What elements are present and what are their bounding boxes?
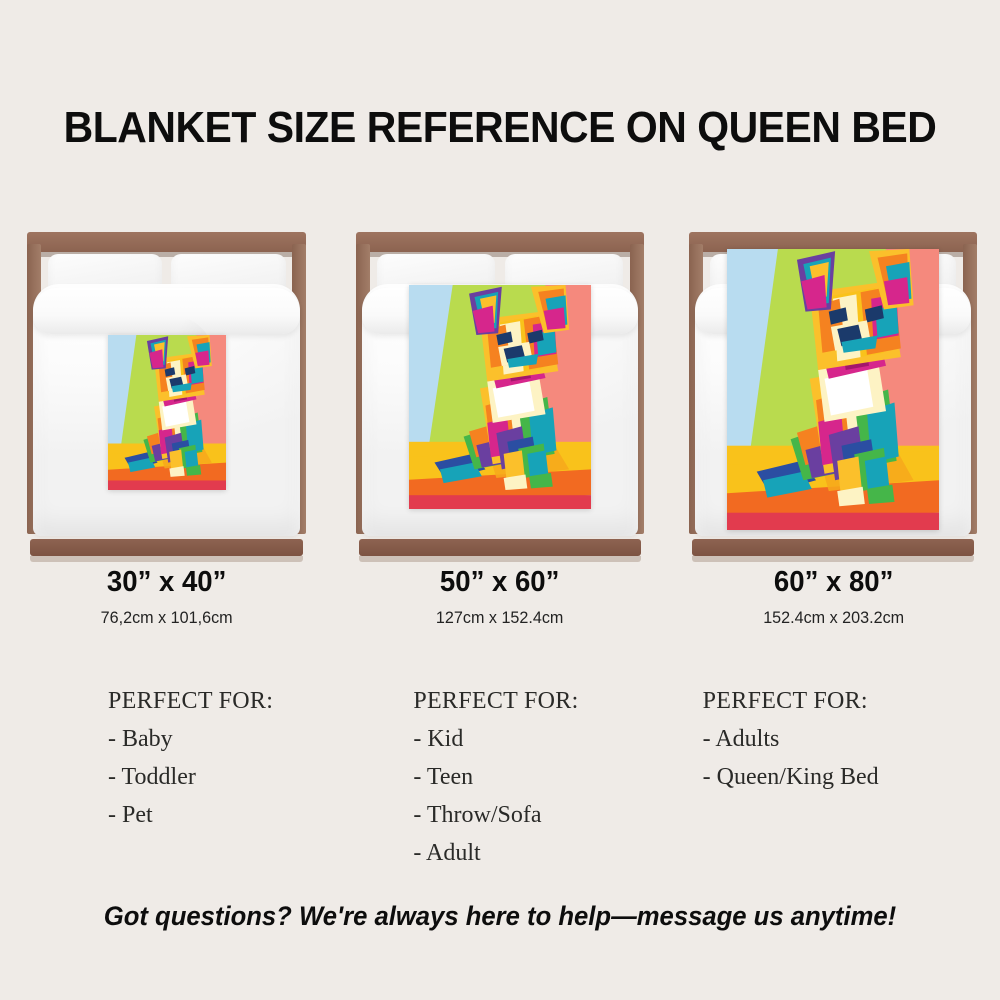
size-inches-label: 60” x 80”	[675, 566, 992, 599]
size-cell-60x80: 60” x 80” 152.4cm x 203.2cm	[667, 566, 1000, 628]
list-item: - Toddler	[108, 764, 333, 791]
blanket-preview-60x80[interactable]	[727, 249, 939, 530]
product-column-60x80	[667, 232, 1000, 572]
bed-headboard	[27, 232, 305, 252]
perfect-for-row: PERFECT FOR: - Baby - Toddler - Pet PERF…	[0, 688, 1000, 867]
size-inches-label: 30” x 40”	[8, 566, 325, 599]
perfect-for-heading: PERFECT FOR:	[108, 688, 333, 715]
list-item: - Kid	[413, 726, 666, 753]
bed-footboard	[359, 539, 641, 556]
size-cm-label: 127cm x 152.4cm	[342, 608, 659, 628]
size-label-row: 30” x 40” 76,2cm x 101,6cm 50” x 60” 127…	[0, 566, 1000, 628]
footboard-shadow	[30, 556, 303, 562]
list-item: - Baby	[108, 726, 333, 753]
size-cell-50x60: 50” x 60” 127cm x 152.4cm	[333, 566, 666, 628]
corgi-artwork-icon	[409, 285, 591, 509]
list-item: - Adults	[703, 726, 1000, 753]
list-item: - Adult	[413, 840, 666, 867]
bed-footboard	[692, 539, 974, 556]
corgi-artwork-icon	[108, 335, 226, 490]
list-item: - Teen	[413, 764, 666, 791]
list-item: - Throw/Sofa	[413, 802, 666, 829]
product-column-50x60	[333, 232, 666, 572]
size-cm-label: 76,2cm x 101,6cm	[8, 608, 325, 628]
queen-bed-illustration	[350, 232, 650, 562]
queen-bed-illustration	[683, 232, 983, 562]
perfect-for-heading: PERFECT FOR:	[413, 688, 666, 715]
footer-contact-message: Got questions? We're always here to help…	[25, 901, 975, 932]
perfect-for-50x60: PERFECT FOR: - Kid - Teen - Throw/Sofa -…	[333, 688, 666, 867]
footboard-shadow	[359, 556, 641, 562]
footboard-shadow	[692, 556, 974, 562]
perfect-for-30x40: PERFECT FOR: - Baby - Toddler - Pet	[0, 688, 333, 867]
blanket-preview-30x40[interactable]	[108, 335, 226, 490]
bed-mockup-row	[0, 232, 1000, 572]
perfect-for-60x80: PERFECT FOR: - Adults - Queen/King Bed	[667, 688, 1000, 867]
bed-headboard	[356, 232, 644, 252]
queen-bed-illustration	[22, 232, 312, 562]
size-cm-label: 152.4cm x 203.2cm	[675, 608, 992, 628]
product-column-30x40	[0, 232, 333, 572]
blanket-preview-50x60[interactable]	[409, 285, 591, 509]
page-title: BLANKET SIZE REFERENCE ON QUEEN BED	[35, 103, 965, 153]
list-item: - Pet	[108, 802, 333, 829]
corgi-artwork-icon	[727, 249, 939, 530]
size-inches-label: 50” x 60”	[342, 566, 659, 599]
size-cell-30x40: 30” x 40” 76,2cm x 101,6cm	[0, 566, 333, 628]
list-item: - Queen/King Bed	[703, 764, 1000, 791]
perfect-for-heading: PERFECT FOR:	[703, 688, 1000, 715]
bed-footboard	[30, 539, 303, 556]
